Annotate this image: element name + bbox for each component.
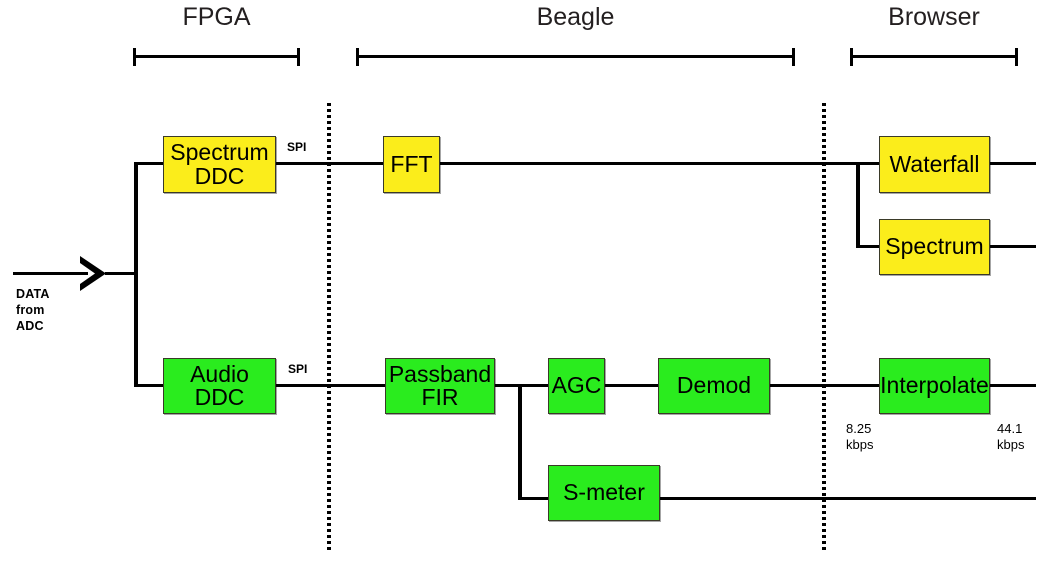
bracket-cap-left	[356, 48, 359, 66]
node-s-meter[interactable]: S-meter	[548, 465, 660, 521]
section-bracket-browser	[850, 48, 1018, 66]
wire-s-meter-output	[658, 497, 1036, 500]
rate-label-output: 44.1 kbps	[997, 421, 1024, 452]
bracket-cap-right	[297, 48, 300, 66]
node-label: S-meter	[549, 481, 659, 504]
section-bracket-beagle	[356, 48, 795, 66]
node-spectrum-ddc[interactable]: Spectrum DDC	[163, 136, 276, 193]
bracket-cap-right	[1015, 48, 1018, 66]
node-fft[interactable]: FFT	[383, 136, 440, 193]
right-arrow-icon	[78, 255, 108, 293]
adc-split-trunk-wire	[134, 162, 138, 387]
node-passband-fir[interactable]: Passband FIR	[385, 358, 495, 414]
bracket-cap-right	[792, 48, 795, 66]
wire-agc-to-demod	[603, 384, 661, 387]
node-demod[interactable]: Demod	[658, 358, 770, 414]
wire-audio-ddc-to-passband-fir	[274, 384, 387, 387]
node-label: Waterfall	[880, 153, 989, 176]
wire-browser-split-vertical	[856, 162, 860, 248]
link-tag-spi-top: SPI	[287, 141, 306, 155]
node-label: Spectrum DDC	[164, 141, 275, 188]
wire-split-to-s-meter	[518, 497, 552, 500]
wire-fft-to-browser	[438, 162, 882, 165]
node-spectrum[interactable]: Spectrum	[879, 219, 990, 275]
node-label: Passband FIR	[386, 363, 494, 410]
wire-interpolate-output	[988, 384, 1036, 387]
node-label: Spectrum	[880, 235, 989, 258]
bracket-cap-left	[850, 48, 853, 66]
wire-trunk-to-audio-ddc	[134, 384, 166, 387]
bracket-bar	[850, 55, 1018, 58]
bracket-bar	[133, 55, 300, 58]
wire-waterfall-output	[988, 162, 1036, 165]
boundary-divider-beagle-browser	[822, 103, 826, 553]
section-title-beagle: Beagle	[356, 5, 795, 30]
node-waterfall[interactable]: Waterfall	[879, 136, 990, 193]
node-label: AGC	[549, 374, 604, 397]
section-bracket-fpga	[133, 48, 300, 66]
bracket-bar	[356, 55, 795, 58]
wire-trunk-to-spectrum-ddc	[134, 162, 166, 165]
node-label: Interpolate	[880, 374, 989, 397]
node-interpolate[interactable]: Interpolate	[879, 358, 990, 414]
node-label: FFT	[384, 153, 439, 176]
section-title-browser: Browser	[850, 5, 1018, 30]
node-audio-ddc[interactable]: Audio DDC	[163, 358, 276, 414]
block-diagram: FPGA Beagle Browser DATA from ADC	[0, 0, 1051, 570]
wire-split-vertical-to-s-meter	[518, 384, 522, 500]
bracket-cap-left	[133, 48, 136, 66]
node-label: Audio DDC	[164, 363, 275, 410]
section-title-fpga: FPGA	[133, 5, 300, 30]
input-source-label: DATA from ADC	[16, 286, 50, 334]
input-arrow-shaft	[13, 272, 88, 275]
input-stub-wire	[105, 272, 137, 275]
link-tag-spi-bottom: SPI	[288, 363, 307, 377]
node-agc[interactable]: AGC	[548, 358, 605, 414]
node-label: Demod	[659, 374, 769, 397]
rate-label-input: 8.25 kbps	[846, 421, 873, 452]
wire-spectrum-ddc-to-fft	[274, 162, 385, 165]
wire-demod-to-interpolate	[768, 384, 882, 387]
boundary-divider-fpga-beagle	[327, 103, 331, 553]
wire-spectrum-output	[988, 245, 1036, 248]
